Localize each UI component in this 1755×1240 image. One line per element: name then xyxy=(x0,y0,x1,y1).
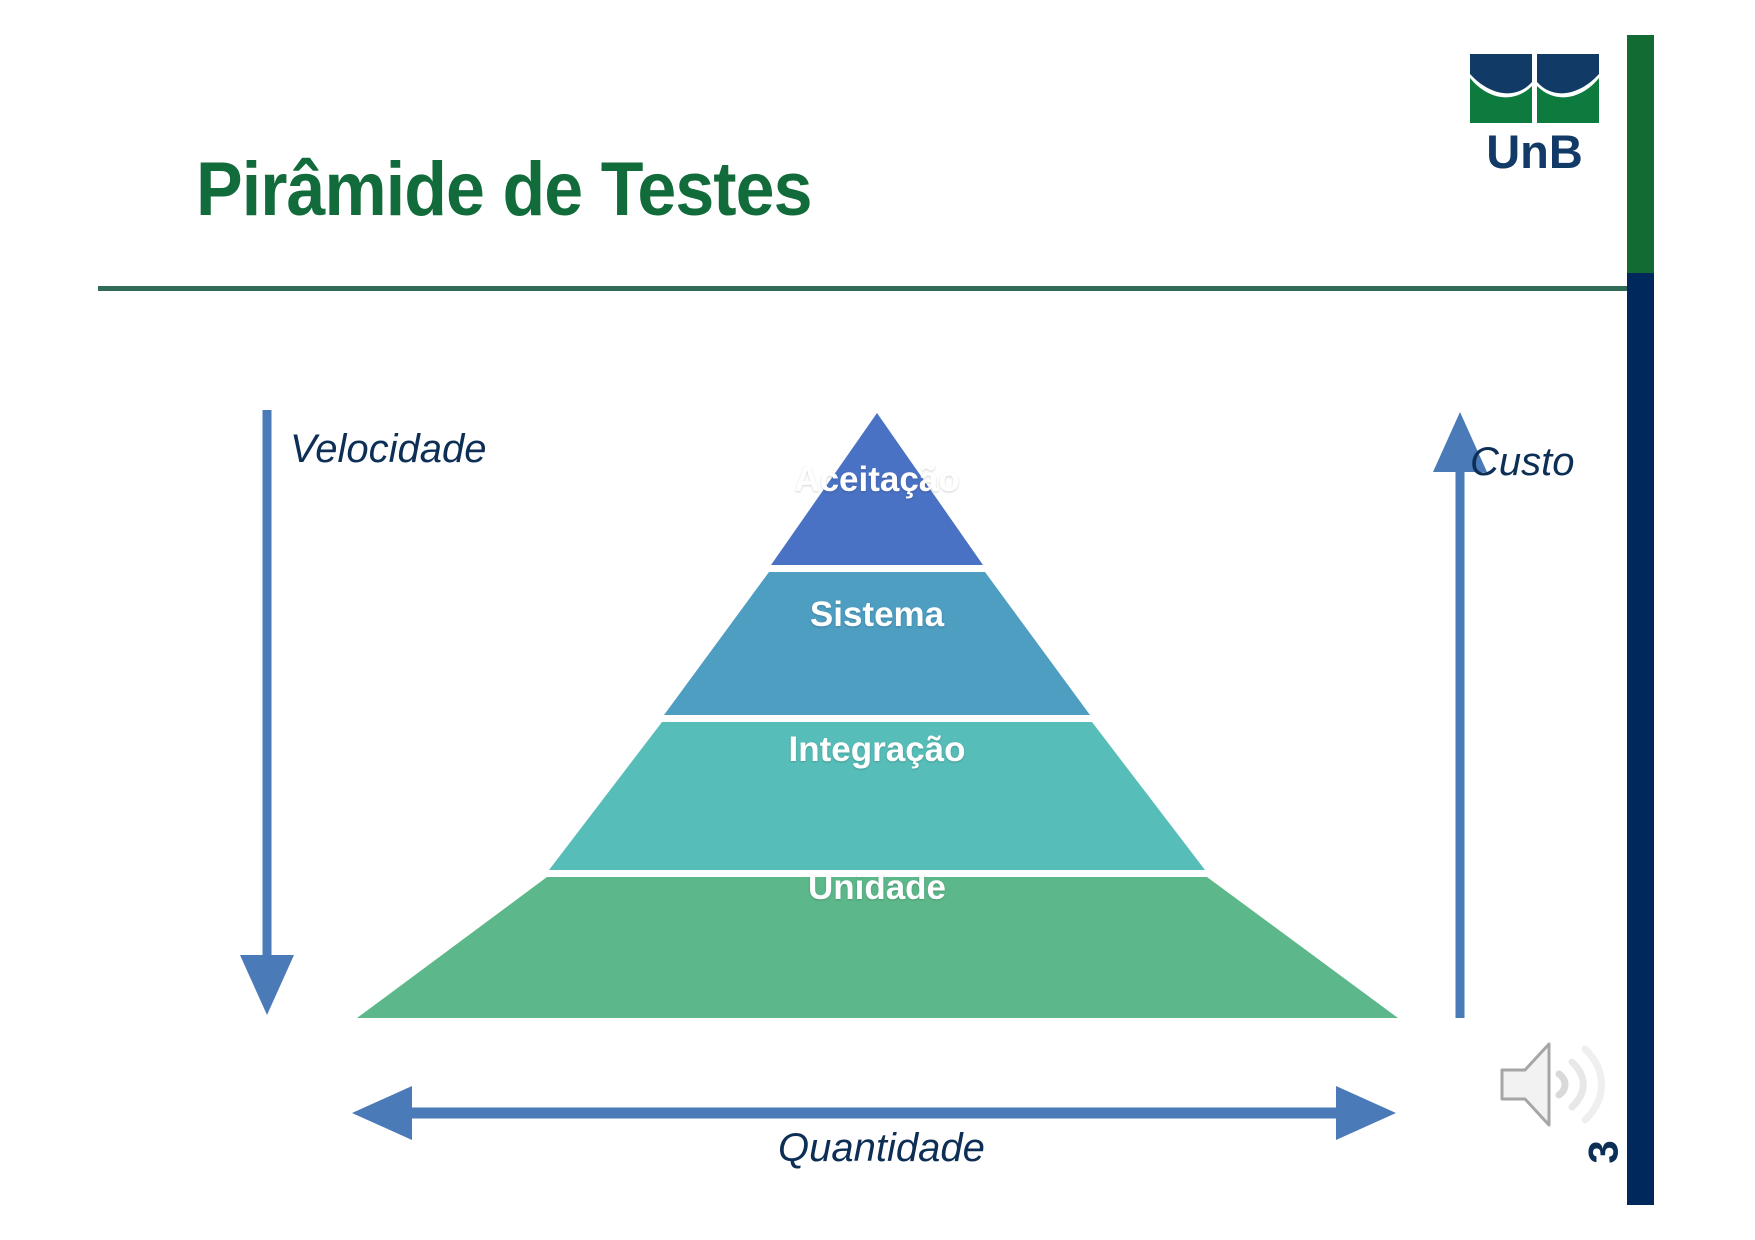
slide-canvas: Pirâmide de Testes UnB xyxy=(0,0,1755,1240)
pyramid-label-unidade: Unidade xyxy=(577,868,1177,908)
pyramid-label-integracao: Integração xyxy=(577,730,1177,770)
pyramid-label-aceitacao: Aceitação xyxy=(577,460,1177,500)
custo-arrow xyxy=(1433,412,1487,1018)
axis-label-custo: Custo xyxy=(1470,440,1575,485)
velocidade-arrow xyxy=(240,410,294,1015)
page-number: 3 xyxy=(1580,1140,1628,1163)
pyramid-label-sistema: Sistema xyxy=(577,595,1177,635)
axis-label-velocidade: Velocidade xyxy=(290,427,486,472)
pyramid-tier-sistema xyxy=(664,572,1090,715)
axis-label-quantidade: Quantidade xyxy=(778,1126,985,1171)
speaker-icon[interactable] xyxy=(1497,1032,1607,1137)
